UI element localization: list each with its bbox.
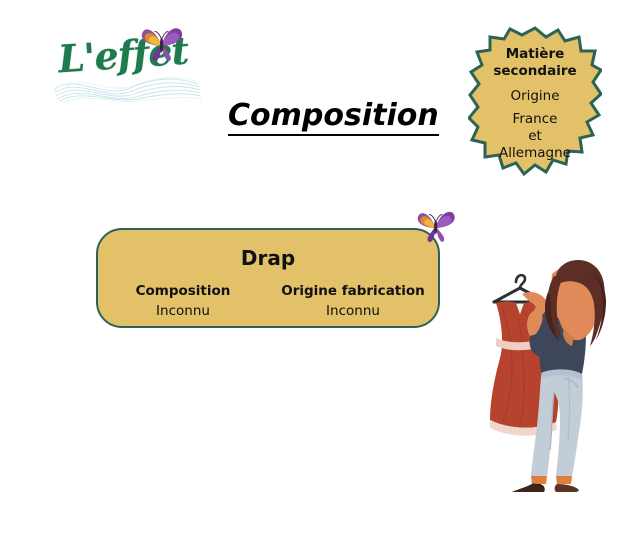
feet (512, 476, 579, 492)
badge-line-5: et (528, 128, 542, 145)
card-title: Drap (98, 246, 438, 270)
badge-line-1: Matière (506, 46, 565, 63)
badge-line-4: France (513, 111, 558, 128)
badge-line-3: Origine (510, 88, 559, 105)
badge-line-6: Allemagne (499, 145, 571, 162)
card-column-origin: Origine fabrication Inconnu (268, 282, 438, 321)
composition-label: Composition (98, 282, 268, 302)
composition-card[interactable]: Drap Composition Inconnu Origine fabrica… (96, 228, 440, 328)
woman-holding-dress-illustration (478, 252, 610, 492)
brand-logo[interactable]: L'effet (52, 26, 212, 106)
badge-line-2: secondaire (493, 63, 576, 80)
origin-label: Origine fabrication (268, 282, 438, 302)
origin-value: Inconnu (268, 302, 438, 322)
page-title: Composition (228, 100, 439, 136)
butterfly-icon (140, 22, 184, 64)
secondary-material-badge: Matière secondaire Origine France et All… (468, 26, 602, 188)
card-column-composition: Composition Inconnu (98, 282, 268, 321)
butterfly-icon (416, 206, 456, 246)
card-columns: Composition Inconnu Origine fabrication … (98, 282, 438, 321)
head (545, 260, 606, 346)
composition-value: Inconnu (98, 302, 268, 322)
